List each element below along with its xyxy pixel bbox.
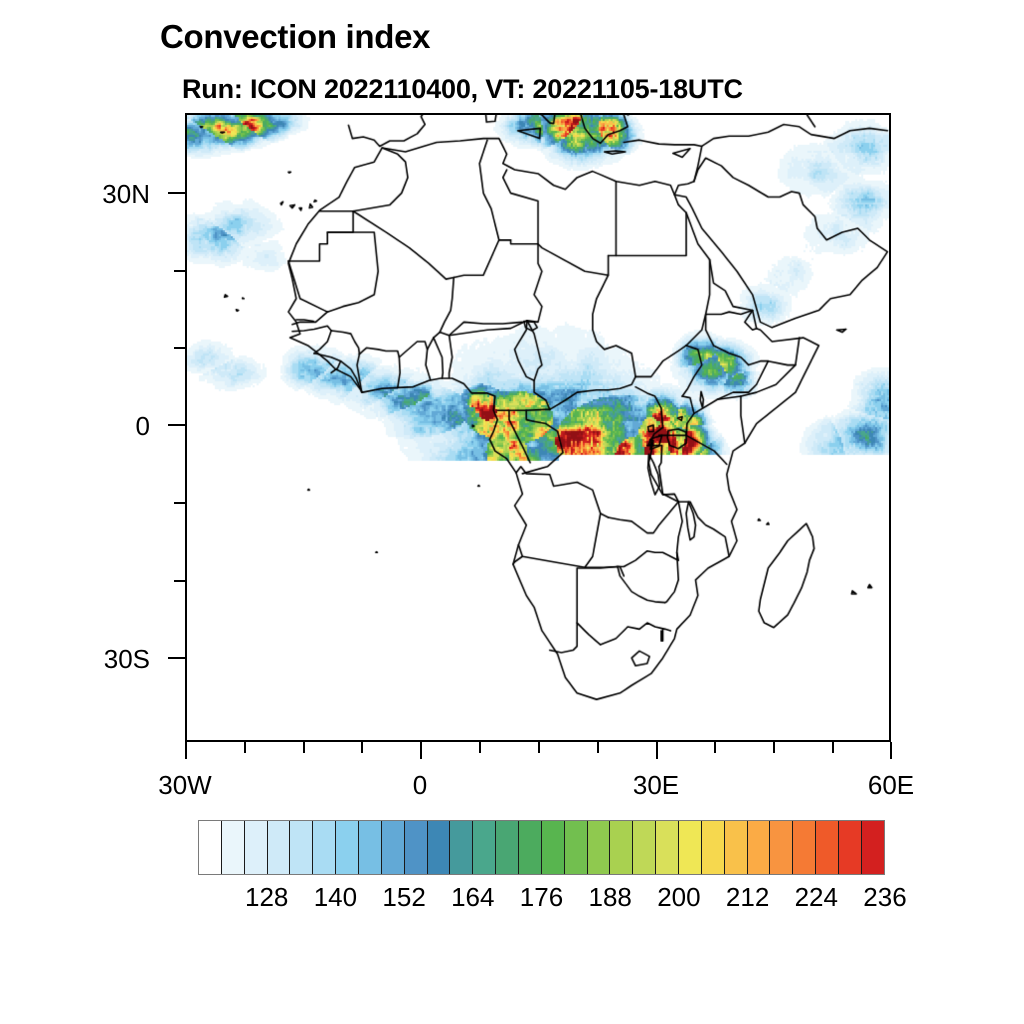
x-tick-22e (597, 742, 599, 753)
x-tick-30e (656, 742, 658, 759)
colorbar-cell (588, 821, 611, 874)
colorbar-cell (633, 821, 656, 874)
colorbar-cell (245, 821, 268, 874)
y-tick-30n (168, 192, 185, 194)
colorbar-tick-labels: 128140152164176188200212224236 (198, 882, 885, 916)
colorbar-cell (702, 821, 725, 874)
colorbar-cell (359, 821, 382, 874)
y-tick-0 (168, 424, 185, 426)
colorbar-cell (382, 821, 405, 874)
x-tick-22w (244, 742, 246, 753)
y-tick-20s (174, 580, 185, 582)
colorbar-cell (428, 821, 451, 874)
colorbar-cell (450, 821, 473, 874)
colorbar-cell (268, 821, 291, 874)
colorbar-cell (405, 821, 428, 874)
x-axis-label-30w: 30W (125, 770, 245, 801)
colorbar-cell (656, 821, 679, 874)
x-tick-30w (185, 742, 187, 759)
colorbar-cell (725, 821, 748, 874)
x-tick-45e (773, 742, 775, 753)
colorbar-cell (770, 821, 793, 874)
x-tick-52e (832, 742, 834, 753)
colorbar-tick-label: 224 (795, 882, 838, 913)
colorbar (198, 820, 885, 875)
x-tick-0 (420, 742, 422, 759)
colorbar-cell (222, 821, 245, 874)
convection-index-raster (187, 115, 889, 740)
colorbar-cell (862, 821, 884, 874)
y-axis-label-0: 0 (40, 411, 150, 442)
x-tick-37e (714, 742, 716, 753)
colorbar-tick-label: 200 (657, 882, 700, 913)
colorbar-cell (199, 821, 222, 874)
colorbar-tick-label: 152 (382, 882, 425, 913)
map-plot-area (185, 113, 891, 742)
colorbar-cell (336, 821, 359, 874)
colorbar-cell (793, 821, 816, 874)
x-tick-60e (890, 742, 892, 759)
colorbar-cell (496, 821, 519, 874)
colorbar-cells (198, 820, 885, 875)
colorbar-tick-label: 236 (863, 882, 906, 913)
run-valid-time-subtitle: Run: ICON 2022110400, VT: 20221105-18UTC (182, 74, 743, 105)
y-axis-label-30n: 30N (40, 179, 150, 210)
colorbar-cell (473, 821, 496, 874)
colorbar-cell (542, 821, 565, 874)
colorbar-cell (816, 821, 839, 874)
colorbar-tick-label: 188 (588, 882, 631, 913)
y-axis-label-30s: 30S (40, 644, 150, 675)
y-tick-30s (168, 657, 185, 659)
x-tick-15w (303, 742, 305, 753)
colorbar-cell (290, 821, 313, 874)
y-tick-10n (174, 347, 185, 349)
colorbar-cell (565, 821, 588, 874)
colorbar-tick-label: 164 (451, 882, 494, 913)
colorbar-cell (839, 821, 862, 874)
colorbar-tick-label: 140 (314, 882, 357, 913)
y-tick-10s (174, 502, 185, 504)
colorbar-cell (519, 821, 542, 874)
page-title: Convection index (160, 18, 430, 56)
x-tick-15e (538, 742, 540, 753)
x-axis-label-60e: 60E (831, 770, 951, 801)
colorbar-tick-label: 128 (245, 882, 288, 913)
x-tick-7e (479, 742, 481, 753)
x-tick-7w (361, 742, 363, 753)
x-axis-label-0: 0 (360, 770, 480, 801)
x-axis-label-30e: 30E (596, 770, 716, 801)
colorbar-cell (679, 821, 702, 874)
colorbar-cell (610, 821, 633, 874)
colorbar-cell (313, 821, 336, 874)
colorbar-tick-label: 176 (520, 882, 563, 913)
colorbar-tick-label: 212 (726, 882, 769, 913)
colorbar-cell (748, 821, 771, 874)
y-tick-20n (174, 270, 185, 272)
